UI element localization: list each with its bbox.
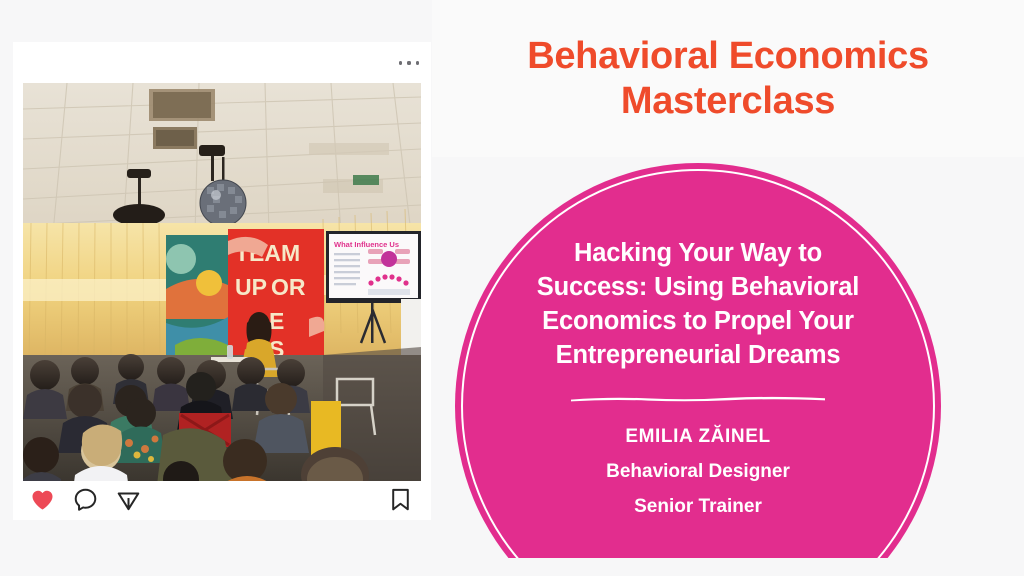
svg-text:What Influence Us: What Influence Us: [334, 240, 399, 249]
post-action-bar: [13, 481, 431, 520]
more-options-icon[interactable]: [399, 57, 419, 69]
session-headline-line-1: Hacking Your Way to: [574, 237, 822, 271]
bottom-strip: [0, 558, 1024, 576]
session-headline-line-2: Success: Using Behavioral: [537, 271, 859, 305]
event-title-line-2: Masterclass: [621, 79, 835, 124]
share-icon[interactable]: [116, 487, 141, 512]
headline-divider: [570, 395, 826, 402]
speaker-role-2: Senior Trainer: [634, 496, 762, 518]
team-up-banner: TEAM UP OR E S: [228, 229, 324, 363]
conference-photo-illustration: TEAM UP OR E S What Influence Us: [23, 83, 421, 481]
post-photo[interactable]: TEAM UP OR E S What Influence Us: [23, 83, 421, 481]
decor-panel: [166, 235, 228, 363]
event-title-card: Behavioral Economics Masterclass: [432, 0, 1024, 157]
speaker-role-1: Behavioral Designer: [606, 461, 790, 483]
session-circle-panel: Hacking Your Way to Success: Using Behav…: [455, 163, 941, 576]
post-header: [13, 42, 431, 83]
session-headline-line-3: Economics to Propel Your: [542, 305, 854, 339]
slide-stage: TEAM UP OR E S What Influence Us: [0, 0, 1024, 576]
comment-icon[interactable]: [73, 487, 98, 512]
bookmark-icon[interactable]: [388, 487, 413, 512]
like-icon[interactable]: [30, 487, 55, 512]
session-headline-line-4: Entrepreneurial Dreams: [556, 339, 841, 373]
event-title-line-1: Behavioral Economics: [527, 34, 929, 79]
instagram-post-card: TEAM UP OR E S What Influence Us: [13, 42, 431, 520]
svg-text:UP: UP: [235, 274, 267, 300]
svg-text:OR: OR: [271, 274, 306, 300]
speaker-name: EMILIA ZĂINEL: [625, 426, 770, 448]
